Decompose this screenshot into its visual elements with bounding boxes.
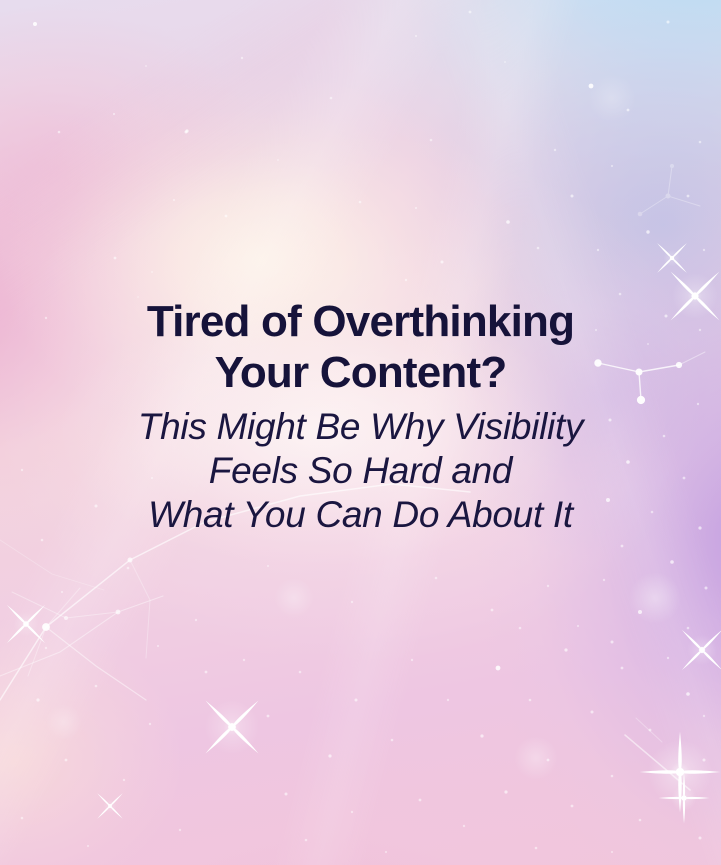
background-periwinkle-wash [0,0,721,865]
sparkle-left-edge [0,586,64,662]
sparkle-right-mid [646,247,721,345]
subheadline-line-2: Feels So Hard and [0,449,721,493]
background-center-veil [0,0,721,865]
constellation-lines-topright [638,164,700,215]
headline-line-2: Your Content? [0,347,721,398]
sparkle-left-lower [179,674,285,780]
background-base-gradient [0,0,721,865]
headline-group: Tired of Overthinking Your Content? [0,296,721,398]
background-violet-wash-mid [0,0,721,865]
background-peach-wash [0,0,721,865]
background-cream-wash [0,0,721,865]
sparkle-right-lower-small [659,773,710,824]
star-dots [21,11,708,854]
constellation-lines-right [595,352,705,404]
subheadline-line-3: What You Can Do About It [0,493,721,537]
constellation-lines-left [0,484,470,700]
sparkle-right-bottom-edge [662,610,721,691]
sparkle-right-upper [642,228,701,287]
subheadline-line-1: This Might Be Why Visibility [0,405,721,449]
graphic-canvas: Tired of Overthinking Your Content? This… [0,0,721,865]
background-pink-wash-left [0,0,721,865]
background-pink-wash-bottom [0,0,721,865]
background-blue-wash [0,0,721,865]
star-field [0,0,721,865]
sparkle-right-lower [640,732,721,813]
headline-text-block: Tired of Overthinking Your Content? This… [0,296,721,537]
background-rose-wash [0,0,721,865]
background-headline-glow [0,0,721,865]
subheadline-group: This Might Be Why Visibility Feels So Ha… [0,405,721,537]
headline-line-1: Tired of Overthinking [0,296,721,347]
sparkle-bottom-left-small [85,781,136,832]
meteor-streak [625,718,690,790]
background-brush-streaks [0,0,721,865]
glow-blooms [46,74,681,780]
background-violet-wash-right [0,0,721,865]
